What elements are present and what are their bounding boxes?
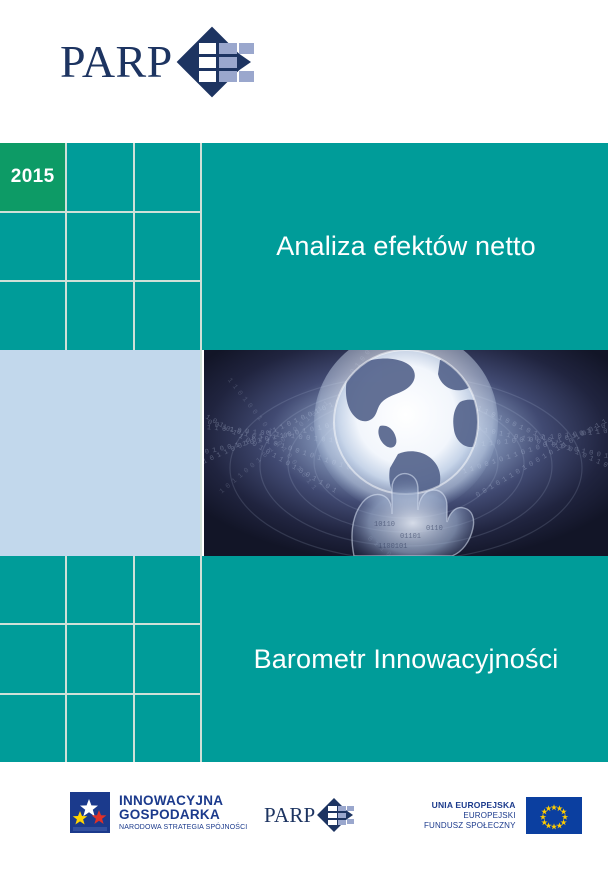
- document-title-primary: Analiza efektów netto: [204, 143, 608, 350]
- grid-cell: [67, 213, 132, 281]
- eu-logo: UNIA EUROPEJSKA EUROPEJSKI FUNDUSZ SPOŁE…: [424, 797, 582, 834]
- diamond-cell: [219, 71, 237, 82]
- parp-footer-logo: PARP: [264, 800, 355, 830]
- eu-line-1: UNIA EUROPEJSKA: [424, 800, 516, 811]
- diamond-cell-grid: [328, 806, 346, 825]
- grid-cell: [135, 625, 200, 692]
- diamond-outer-square: [347, 806, 354, 811]
- top-teal-band: 2015 Analiza efektów netto: [0, 143, 608, 350]
- parp-wordmark: PARP: [60, 39, 173, 85]
- eu-flag-icon: [526, 797, 582, 834]
- diamond-outer-square: [239, 43, 254, 54]
- diamond-cell: [219, 43, 237, 54]
- cover-photo: 10110010101101001011 0100110101100101001…: [204, 350, 608, 556]
- diamond-cell: [199, 43, 217, 54]
- diamond-cell: [328, 820, 336, 825]
- grid-cell: [67, 282, 132, 350]
- diamond-outer-square: [239, 71, 254, 82]
- ig-line-2: GOSPODARKA: [119, 808, 247, 822]
- parp-diamond-icon: [185, 30, 255, 94]
- svg-text:1100101: 1100101: [378, 543, 407, 551]
- grid-cell: [135, 213, 200, 281]
- grid-cell: [135, 282, 200, 350]
- document-title-secondary: Barometr Innowacyjności: [204, 556, 608, 762]
- grid-cell: [135, 695, 200, 762]
- year-badge: 2015: [0, 143, 65, 211]
- diamond-cell: [338, 806, 346, 811]
- parp-wordmark: PARP: [264, 805, 315, 826]
- diamond-outer-square: [347, 819, 354, 824]
- grid-cell: [0, 625, 65, 692]
- eu-text: UNIA EUROPEJSKA EUROPEJSKI FUNDUSZ SPOŁE…: [424, 800, 516, 831]
- grid-cell: [0, 695, 65, 762]
- stars-emblem-icon: [70, 792, 110, 833]
- grid-cell: [0, 213, 65, 281]
- bottom-teal-band: Barometr Innowacyjności: [0, 556, 608, 762]
- year-label: 2015: [11, 166, 55, 188]
- grid-cell: [67, 625, 132, 692]
- left-blue-panel: [0, 350, 202, 556]
- grid-cell: [67, 143, 132, 211]
- grid-cell: [0, 556, 65, 623]
- grid-block-bottom: [0, 556, 202, 762]
- innowacyjna-gospodarka-text: INNOWACYJNA GOSPODARKA NARODOWA STRATEGI…: [119, 794, 247, 832]
- grid-cell: [135, 556, 200, 623]
- eu-line-3: FUNDUSZ SPOŁECZNY: [424, 821, 516, 831]
- grid-cell: [67, 695, 132, 762]
- svg-text:0110: 0110: [426, 525, 443, 533]
- diamond-cell: [338, 813, 346, 818]
- diamond-cell: [219, 57, 237, 68]
- diamond-cell: [338, 820, 346, 825]
- innowacyjna-gospodarka-logo: INNOWACYJNA GOSPODARKA NARODOWA STRATEGI…: [70, 792, 247, 833]
- parp-diamond-icon: [321, 800, 355, 830]
- svg-text:01101: 01101: [400, 533, 421, 541]
- diamond-cell: [199, 57, 217, 68]
- diamond-cell: [328, 806, 336, 811]
- diamond-cell: [328, 813, 336, 818]
- grid-block-top: 2015: [0, 143, 202, 350]
- grid-cell: [0, 282, 65, 350]
- diamond-cell-grid: [199, 43, 237, 82]
- svg-text:10110: 10110: [374, 521, 395, 529]
- eu-line-2: EUROPEJSKI: [424, 811, 516, 821]
- ig-line-1: INNOWACYJNA: [119, 794, 247, 808]
- grid-cell: [67, 556, 132, 623]
- cover-image-band: 10110010101101001011 0100110101100101001…: [0, 350, 608, 556]
- diamond-cell: [199, 71, 217, 82]
- grid-cell: [135, 143, 200, 211]
- parp-logo: PARP: [60, 30, 255, 94]
- ig-line-3: NARODOWA STRATEGIA SPÓJNOŚCI: [119, 824, 247, 831]
- header-area: PARP: [0, 0, 608, 143]
